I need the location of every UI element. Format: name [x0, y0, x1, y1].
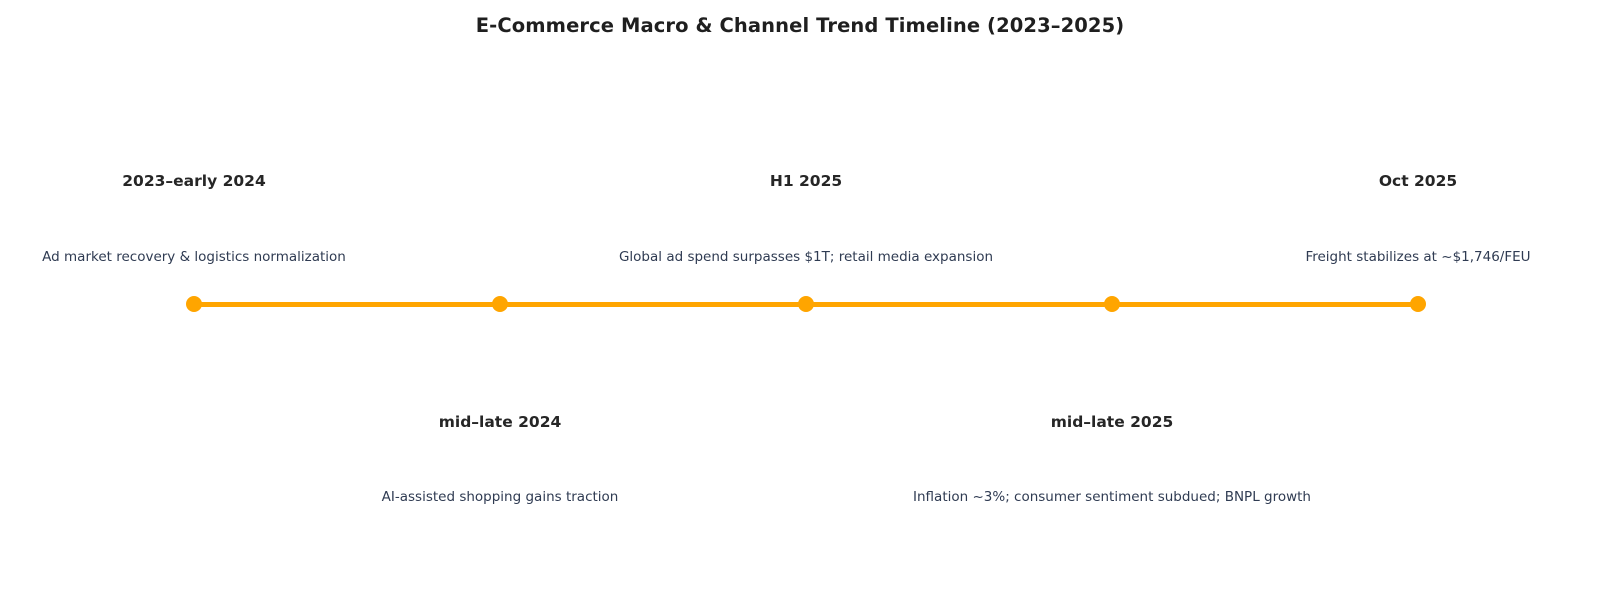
event-label-2: mid–late 2024: [439, 413, 562, 431]
event-label-4: mid–late 2025: [1051, 413, 1174, 431]
event-description-1: Ad market recovery & logistics normaliza…: [42, 249, 346, 265]
timeline-marker-5[interactable]: [1410, 296, 1426, 312]
timeline-marker-2[interactable]: [492, 296, 508, 312]
event-description-5: Freight stabilizes at ~$1,746/FEU: [1305, 249, 1530, 265]
timeline-marker-4[interactable]: [1104, 296, 1120, 312]
timeline-marker-1[interactable]: [186, 296, 202, 312]
event-label-5: Oct 2025: [1379, 172, 1457, 190]
chart-title: E-Commerce Macro & Channel Trend Timelin…: [0, 14, 1600, 37]
timeline-marker-3[interactable]: [798, 296, 814, 312]
event-label-3: H1 2025: [770, 172, 842, 190]
event-description-3: Global ad spend surpasses $1T; retail me…: [619, 249, 993, 265]
timeline-figure: E-Commerce Macro & Channel Trend Timelin…: [0, 0, 1600, 616]
event-label-1: 2023–early 2024: [122, 172, 265, 190]
event-description-4: Inflation ~3%; consumer sentiment subdue…: [913, 489, 1311, 505]
event-description-2: AI-assisted shopping gains traction: [382, 489, 619, 505]
